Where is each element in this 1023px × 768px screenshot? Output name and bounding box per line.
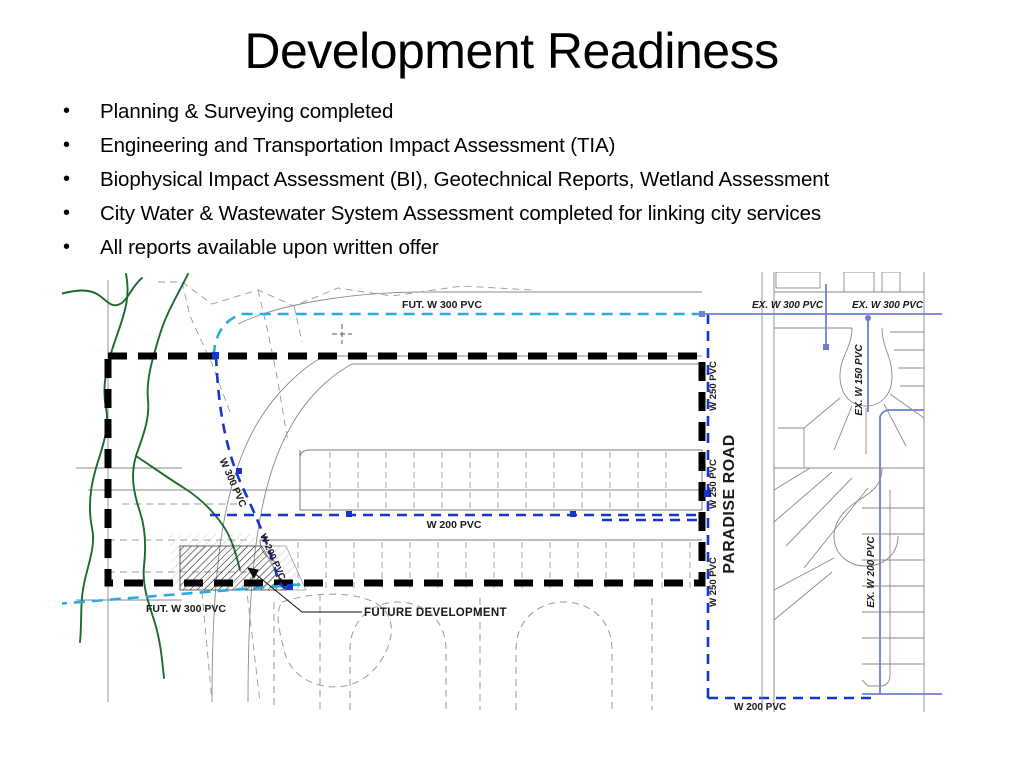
label-w250-lower: W 250 PVC bbox=[708, 557, 719, 607]
label-ex-w200: EX. W 200 PVC bbox=[866, 536, 877, 608]
bullet-text: Biophysical Impact Assessment (BI), Geot… bbox=[100, 164, 829, 195]
page-title: Development Readiness bbox=[0, 22, 1023, 80]
label-w250-mid: W 250 PVC bbox=[708, 459, 719, 509]
label-w200-bottom: W 200 PVC bbox=[734, 702, 786, 712]
label-ex-w300-right: EX. W 300 PVC bbox=[852, 300, 924, 311]
bullet-point-icon: • bbox=[55, 96, 100, 127]
bullet-list: • Planning & Surveying completed • Engin… bbox=[55, 96, 995, 266]
bullet-text: Planning & Surveying completed bbox=[100, 96, 393, 127]
label-fut-w300-top: FUT. W 300 PVC bbox=[402, 299, 482, 311]
list-item: • All reports available upon written off… bbox=[55, 232, 995, 266]
list-item: • Biophysical Impact Assessment (BI), Ge… bbox=[55, 164, 995, 198]
bullet-point-icon: • bbox=[55, 130, 100, 161]
list-item: • Engineering and Transportation Impact … bbox=[55, 130, 995, 164]
slide-canvas: Development Readiness • Planning & Surve… bbox=[0, 0, 1023, 768]
bullet-point-icon: • bbox=[55, 232, 100, 263]
label-ex-w150: EX. W 150 PVC bbox=[854, 344, 865, 416]
label-w250-upper: W 250 PVC bbox=[708, 361, 719, 411]
label-paradise-road: PARADISE ROAD bbox=[721, 434, 738, 574]
site-plan-drawing: FUT. W 300 PVC FUT. W 300 PVC EX. W 300 … bbox=[62, 272, 942, 712]
bullet-text: Engineering and Transportation Impact As… bbox=[100, 130, 615, 161]
bullet-point-icon: • bbox=[55, 198, 100, 229]
list-item: • Planning & Surveying completed bbox=[55, 96, 995, 130]
label-ex-w300-left: EX. W 300 PVC bbox=[752, 300, 824, 311]
bullet-text: City Water & Wastewater System Assessmen… bbox=[100, 198, 821, 229]
label-future-development: FUTURE DEVELOPMENT bbox=[364, 607, 507, 619]
list-item: • City Water & Wastewater System Assessm… bbox=[55, 198, 995, 232]
label-fut-w300-bottom: FUT. W 300 PVC bbox=[146, 603, 226, 615]
bullet-text: All reports available upon written offer bbox=[100, 232, 439, 263]
label-w200-mid: W 200 PVC bbox=[427, 519, 482, 531]
bullet-point-icon: • bbox=[55, 164, 100, 195]
